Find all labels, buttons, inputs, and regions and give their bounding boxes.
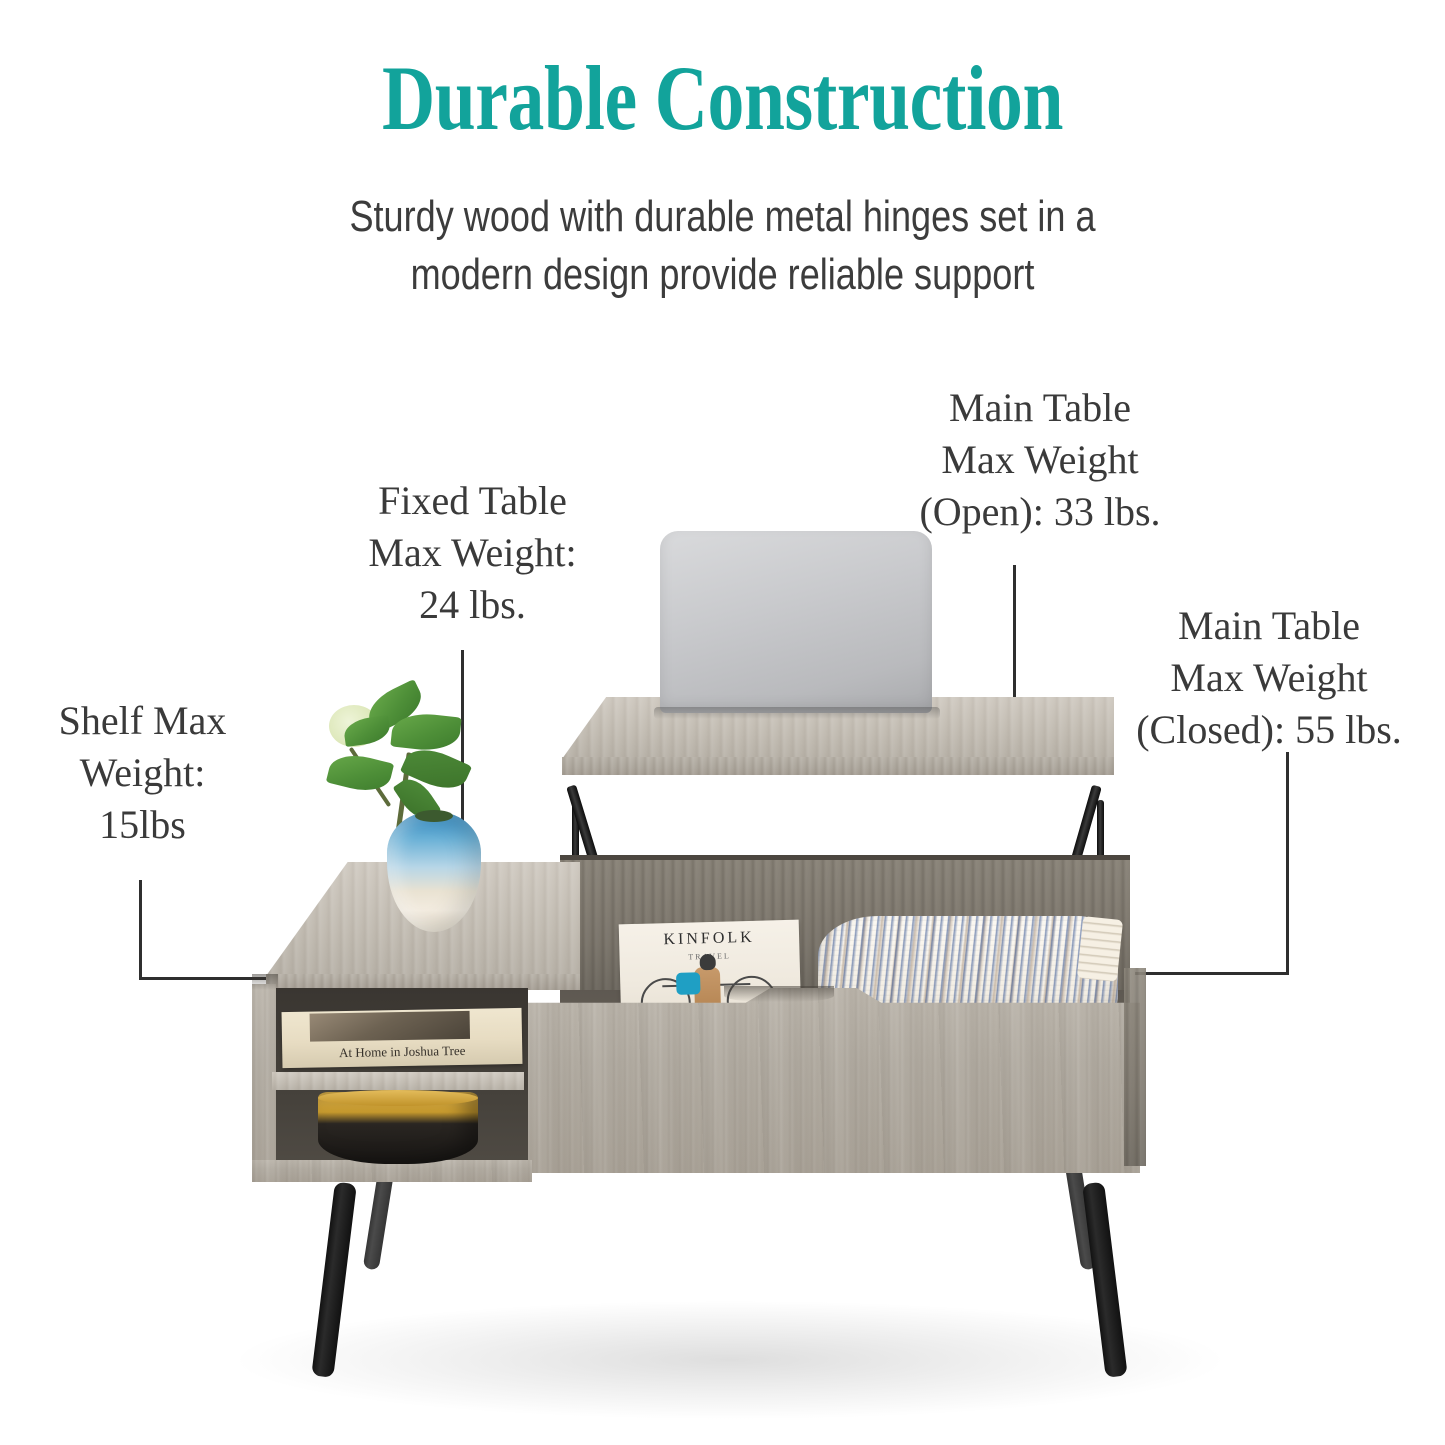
book-cover-photo bbox=[310, 1011, 470, 1042]
subtitle-line-2: modern design provide reliable support bbox=[130, 246, 1315, 304]
laptop bbox=[660, 531, 932, 713]
leader-line-fixed-table bbox=[461, 650, 464, 825]
laptop-base-shadow bbox=[654, 707, 940, 719]
floor-shadow bbox=[230, 1300, 1230, 1420]
bowl-rim bbox=[318, 1090, 478, 1106]
leader-line-closed-vertical bbox=[1286, 752, 1289, 974]
cubby-divider-shelf bbox=[272, 1072, 524, 1090]
callout-main-table-closed: Main Table Max Weight (Closed): 55 lbs. bbox=[1093, 600, 1445, 756]
lift-top-front-edge bbox=[562, 757, 1114, 775]
magazine-cover-figure-head bbox=[700, 954, 716, 970]
table-front-panel bbox=[524, 988, 1140, 1173]
subtitle-line-1: Sturdy wood with durable metal hinges se… bbox=[130, 188, 1315, 246]
callout-fixed-table: Fixed Table Max Weight: 24 lbs. bbox=[320, 475, 625, 631]
blanket-fringe bbox=[1077, 916, 1123, 982]
callout-main-table-open: Main Table Max Weight (Open): 33 lbs. bbox=[855, 382, 1225, 538]
table-front-panel-notch bbox=[724, 986, 834, 1002]
leader-line-closed-horizontal bbox=[1135, 972, 1289, 975]
book-title: At Home in Joshua Tree bbox=[282, 1042, 522, 1062]
vase-mouth bbox=[415, 810, 453, 822]
magazine-title: KINFOLK bbox=[619, 928, 799, 951]
page-subtitle: Sturdy wood with durable metal hinges se… bbox=[130, 188, 1315, 304]
page-title: Durable Construction bbox=[145, 52, 1301, 144]
magazine-cover-figure-bag bbox=[676, 972, 701, 995]
infographic-canvas: Durable Construction Sturdy wood with du… bbox=[0, 0, 1445, 1445]
callout-shelf: Shelf Max Weight: 15lbs bbox=[10, 695, 275, 851]
fixed-table-left-shadow bbox=[252, 974, 278, 990]
leader-line-shelf-vertical bbox=[139, 880, 142, 980]
book-at-home-in-joshua-tree: At Home in Joshua Tree bbox=[282, 1008, 523, 1068]
plant-leaf-4 bbox=[326, 749, 394, 797]
table-right-side-panel bbox=[1124, 968, 1146, 1166]
